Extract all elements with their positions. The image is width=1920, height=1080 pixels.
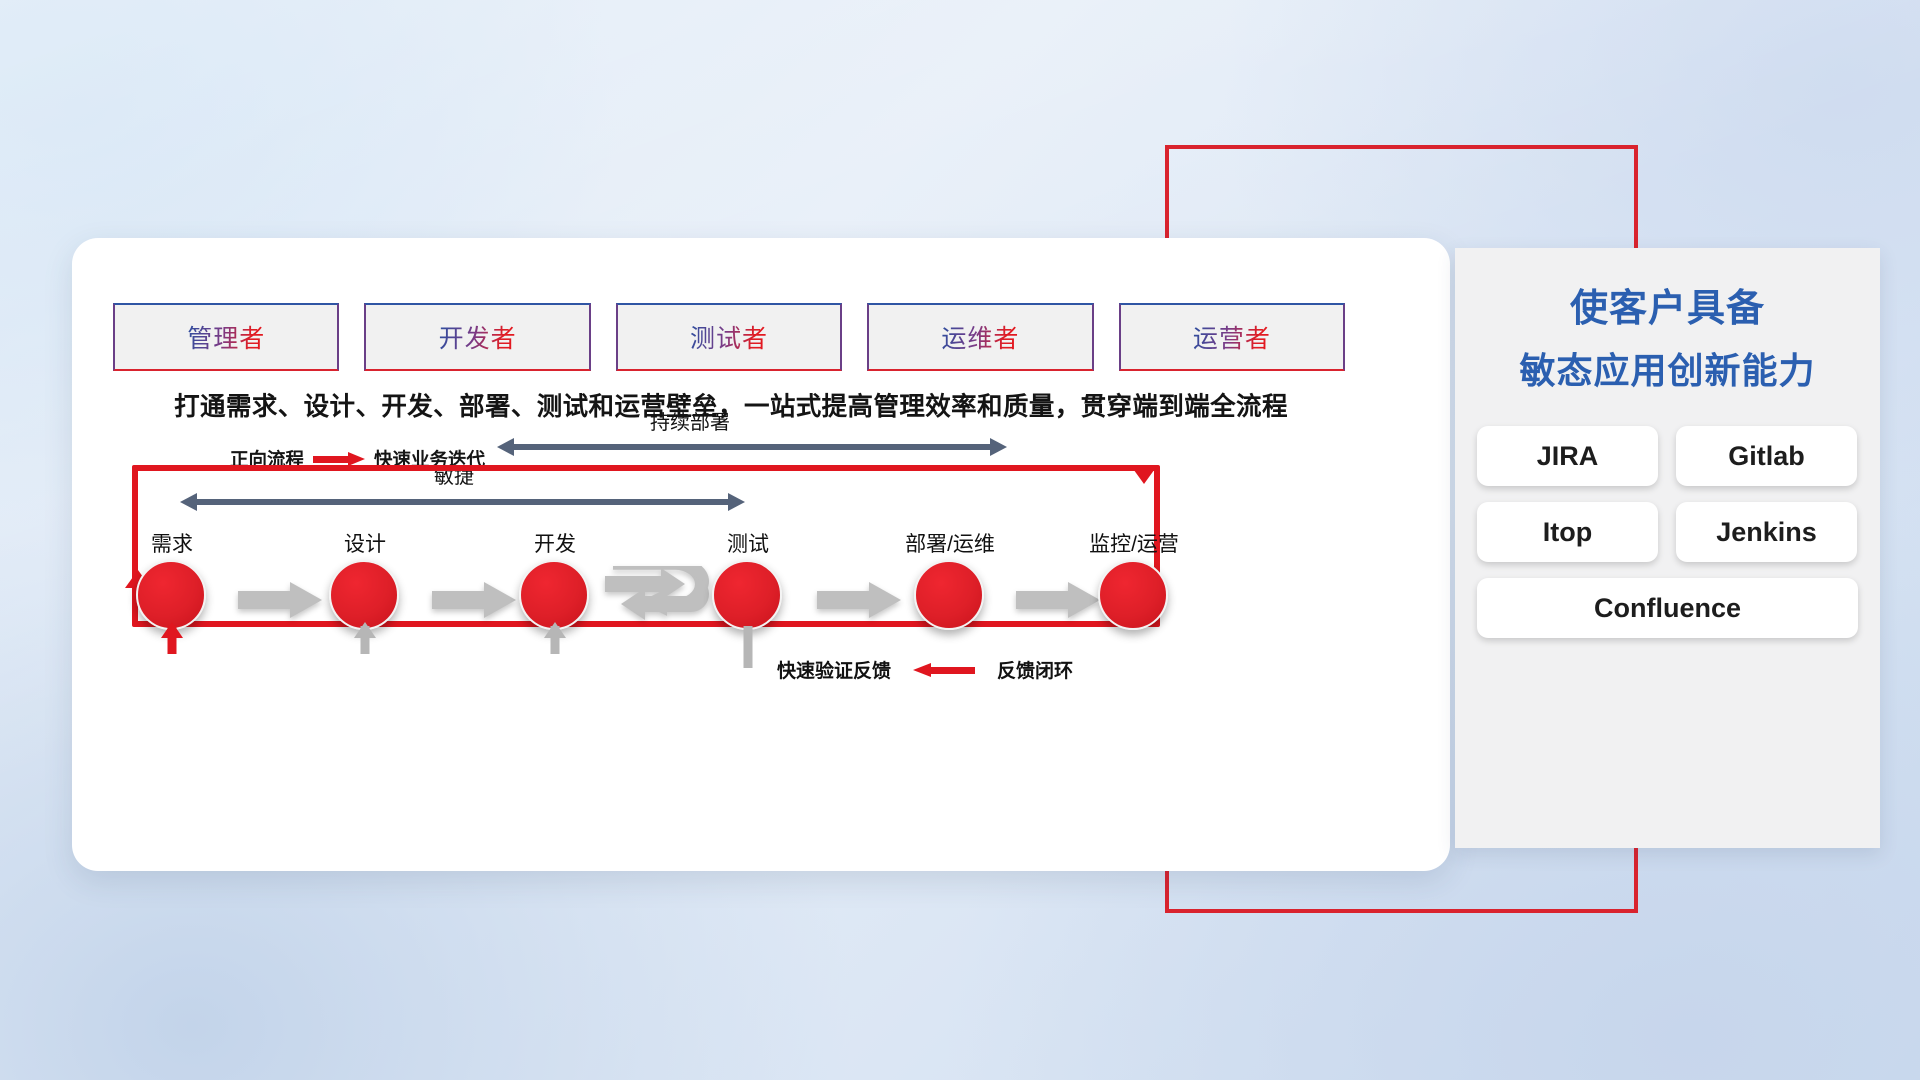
stage-label: 测试 [727,528,769,558]
main-diagram-card: 管理者 开发者 测试者 运维者 运营者 打通需求、设计、开发、部署、测试和运营壁… [72,238,1450,871]
pipeline-stage-test[interactable]: 测试 [712,560,784,630]
pipeline-stage-requirement[interactable]: 需求 [136,560,208,630]
tool-chip-grid: JIRA Gitlab Itop Jenkins Confluence [1477,426,1858,638]
legend-feedback-loop: 快速验证反馈 反馈闭环 [777,656,1073,683]
devops-pipeline: 需求 设计 开发 [72,238,1450,871]
pipeline-stage-develop[interactable]: 开发 [519,560,591,630]
tool-chip-confluence[interactable]: Confluence [1477,578,1858,638]
stage-dot [1098,560,1168,630]
legend-feedback-from-label: 反馈闭环 [997,656,1073,683]
tool-chip-jenkins[interactable]: Jenkins [1676,502,1857,562]
stage-stem-arrow-icon [161,622,183,638]
flow-arrow-2-icon [432,582,516,618]
stage-dot [136,560,206,630]
panel-title-line-1: 使客户具备 [1455,286,1880,334]
tool-chip-jira[interactable]: JIRA [1477,426,1658,486]
stage-dot [914,560,984,630]
stage-label: 监控/运营 [1089,528,1179,558]
stage-stem [744,626,753,668]
flow-arrow-3-icon [817,582,901,618]
flow-arrow-4-icon [1016,582,1100,618]
stage-dot [712,560,782,630]
pipeline-stage-monitor-operations[interactable]: 监控/运营 [1098,560,1170,630]
tool-chip-itop[interactable]: Itop [1477,502,1658,562]
stage-dot [329,560,399,630]
panel-title-line-2: 敏态应用创新能力 [1455,348,1880,393]
stage-label: 开发 [534,528,576,558]
stage-label: 部署/运维 [905,528,995,558]
flow-arrow-1-icon [238,582,322,618]
value-proposition-panel: 使客户具备 敏态应用创新能力 JIRA Gitlab Itop Jenkins … [1455,248,1880,848]
stage-stem-arrow-icon [544,622,566,638]
stage-label: 设计 [344,528,386,558]
iteration-loop-arrow-icon [605,566,715,632]
stage-label: 需求 [151,528,193,558]
stage-stem-arrow-icon [354,622,376,638]
tool-chip-gitlab[interactable]: Gitlab [1676,426,1857,486]
legend-feedback-to-label: 快速验证反馈 [777,656,891,683]
pipeline-stage-deploy-ops[interactable]: 部署/运维 [914,560,986,630]
stage-dot [519,560,589,630]
left-arrow-icon [913,663,975,677]
pipeline-stage-design[interactable]: 设计 [329,560,401,630]
